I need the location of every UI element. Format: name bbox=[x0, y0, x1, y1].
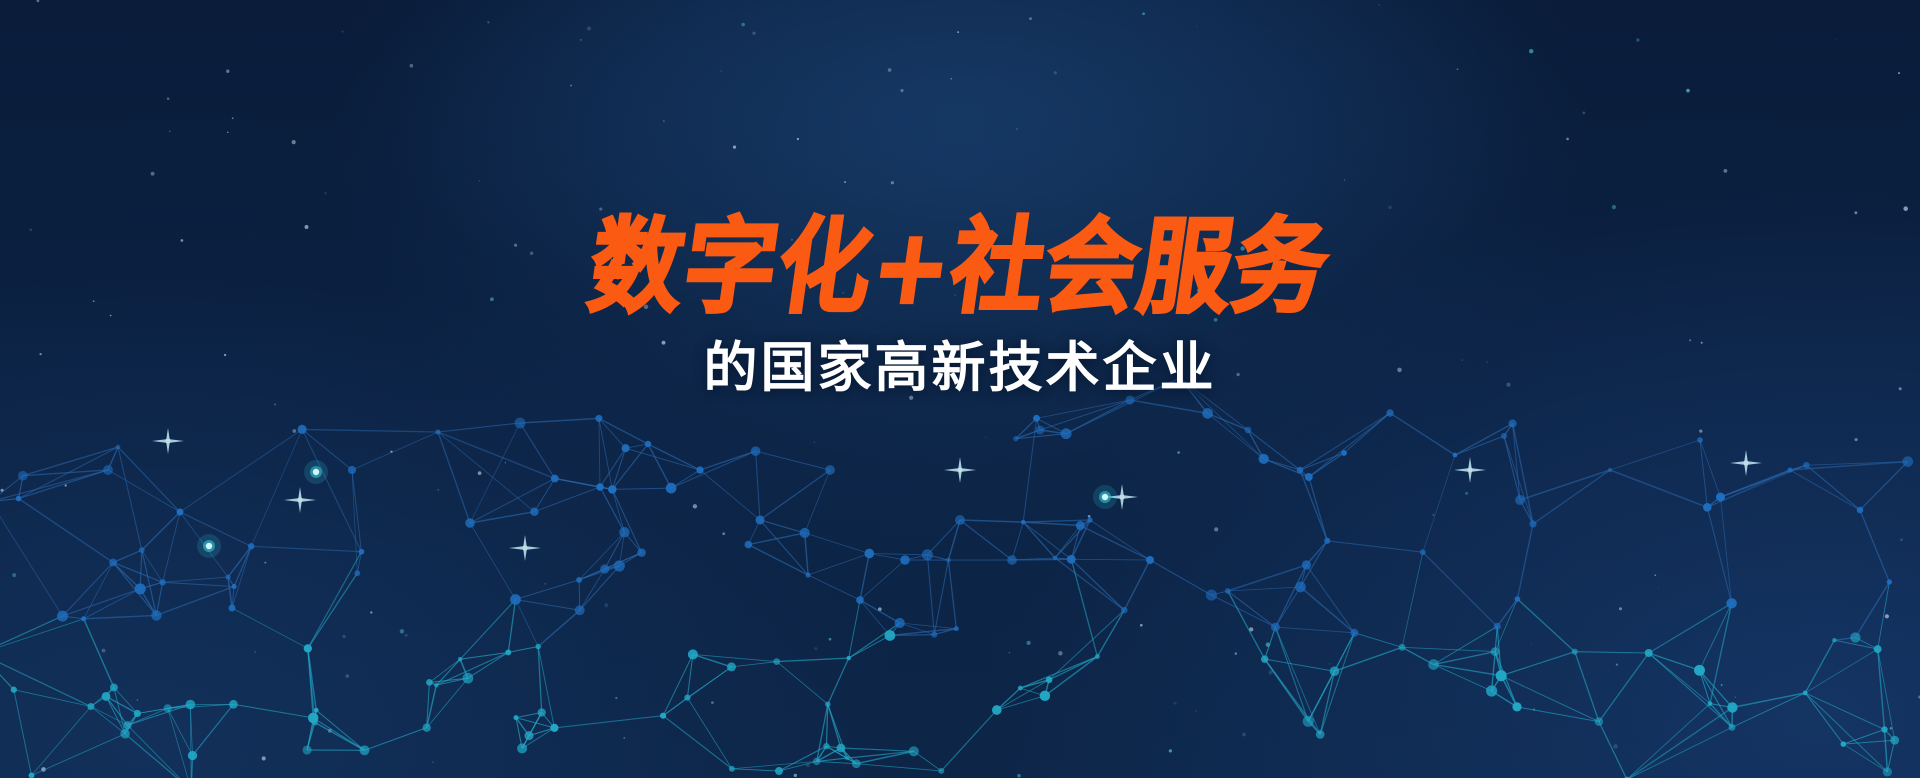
hero-banner: 数字化+社会服务 的国家高新技术企业 bbox=[0, 0, 1920, 778]
banner-copy-block: 数字化+社会服务 的国家高新技术企业 bbox=[0, 0, 1920, 778]
banner-headline: 数字化+社会服务 bbox=[584, 216, 1336, 319]
banner-subheadline: 的国家高新技术企业 bbox=[704, 340, 1217, 394]
